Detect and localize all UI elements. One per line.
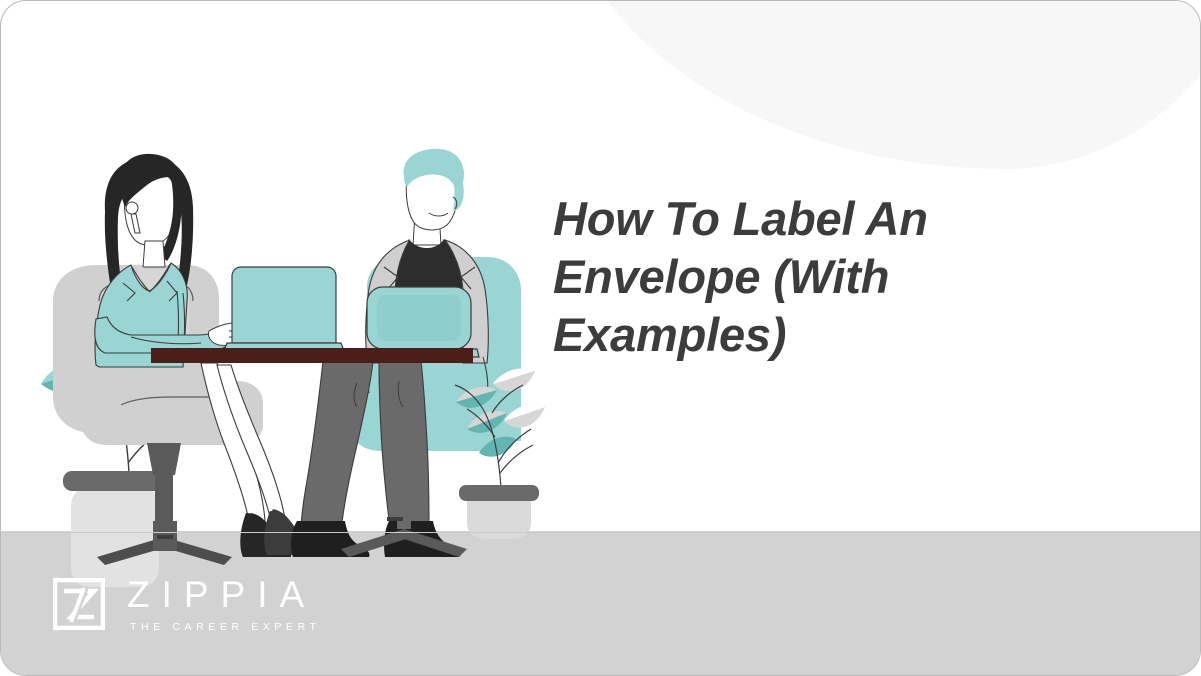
logo-tagline: THE CAREER EXPERT	[130, 622, 321, 633]
teal-laptop-right	[359, 287, 479, 357]
man-figure	[291, 149, 488, 557]
teal-armchair-right	[353, 257, 521, 451]
desk-surface	[151, 348, 473, 363]
zippia-logo[interactable]: ZIPPIA THE CAREER EXPERT	[53, 576, 321, 632]
zippia-wordmark: ZIPPIA THE CAREER EXPERT	[127, 576, 321, 633]
page-title: How To Label An Envelope (With Examples)	[553, 190, 1023, 363]
teal-laptop-left	[223, 267, 345, 353]
potted-plant-right-leaves	[455, 368, 545, 487]
gray-office-chair-left	[53, 265, 263, 565]
potted-plant-left-leaves	[41, 353, 177, 473]
zippia-z-square-icon	[53, 578, 105, 630]
decorative-blob-shape	[557, 0, 1201, 169]
logo-name: ZIPPIA	[127, 576, 321, 613]
promo-card: How To Label An Envelope (With Examples)…	[0, 0, 1201, 676]
woman-figure	[95, 154, 315, 557]
